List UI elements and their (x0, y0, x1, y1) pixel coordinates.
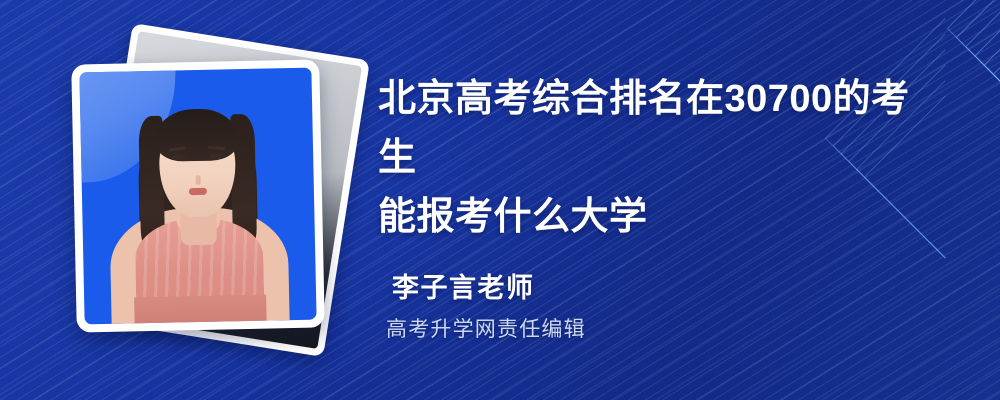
portrait-mouth (189, 188, 207, 195)
author-role: 高考升学网责任编辑 (386, 317, 586, 343)
teacher-portrait-illustration (79, 68, 316, 325)
portrait-dress-waist (134, 295, 267, 324)
teacher-photo-stack (62, 38, 342, 358)
article-hero-banner: 北京高考综合排名在30700的考生 能报考什么大学 李子言老师 高考升学网责任编… (0, 0, 1000, 400)
avatar (79, 68, 316, 325)
banner-text-column: 北京高考综合排名在30700的考生 能报考什么大学 李子言老师 高考升学网责任编… (378, 0, 958, 400)
byline: 李子言老师 高考升学网责任编辑 (392, 271, 586, 343)
page-title: 北京高考综合排名在30700的考生 能报考什么大学 (378, 70, 948, 247)
page-title-line-2: 能报考什么大学 (378, 188, 948, 247)
page-title-line-1: 北京高考综合排名在30700的考生 (378, 70, 948, 188)
author-name: 李子言老师 (392, 271, 586, 305)
portrait-hair-front (154, 108, 239, 162)
portrait-nose (196, 175, 201, 185)
photo-card-front (71, 59, 325, 332)
